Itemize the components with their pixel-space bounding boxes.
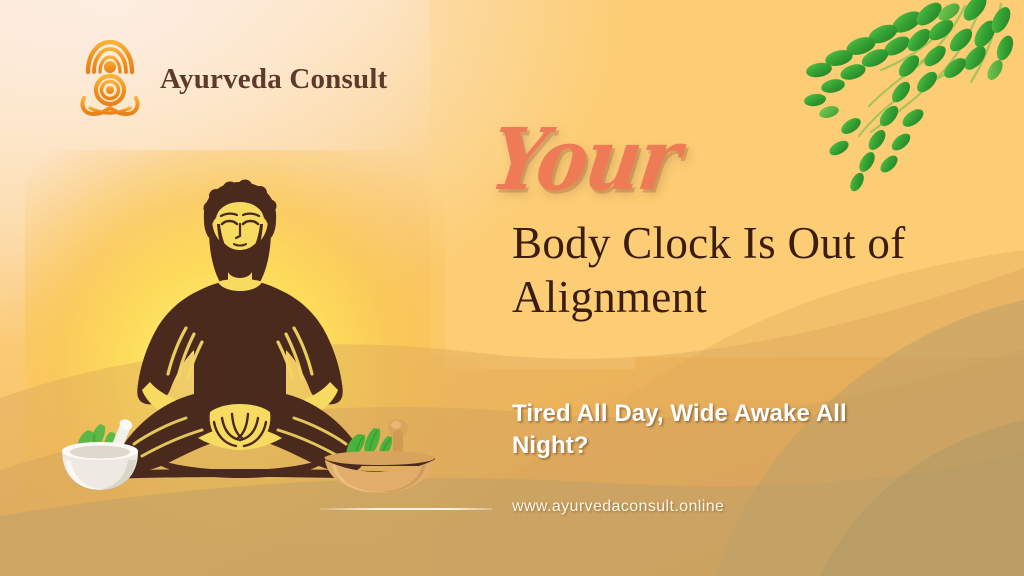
meditation-figure-icon [78,40,142,118]
page-title: Body Clock Is Out of Alignment [512,216,912,324]
script-accent-word: Your [486,117,684,202]
promo-banner: Ayurveda Consult [0,0,1024,576]
moringa-leaf-branch-icon [789,0,1024,215]
brand-name: Ayurveda Consult [160,63,387,96]
brand-logo[interactable]: Ayurveda Consult [78,40,387,118]
subheadline: Tired All Day, Wide Awake All Night? [512,398,912,462]
mortar-and-pestle-icon [48,416,158,494]
url-divider-rule [320,508,492,510]
herb-bowl-icon [322,412,437,494]
website-url[interactable]: www.ayurvedaconsult.online [512,498,724,516]
